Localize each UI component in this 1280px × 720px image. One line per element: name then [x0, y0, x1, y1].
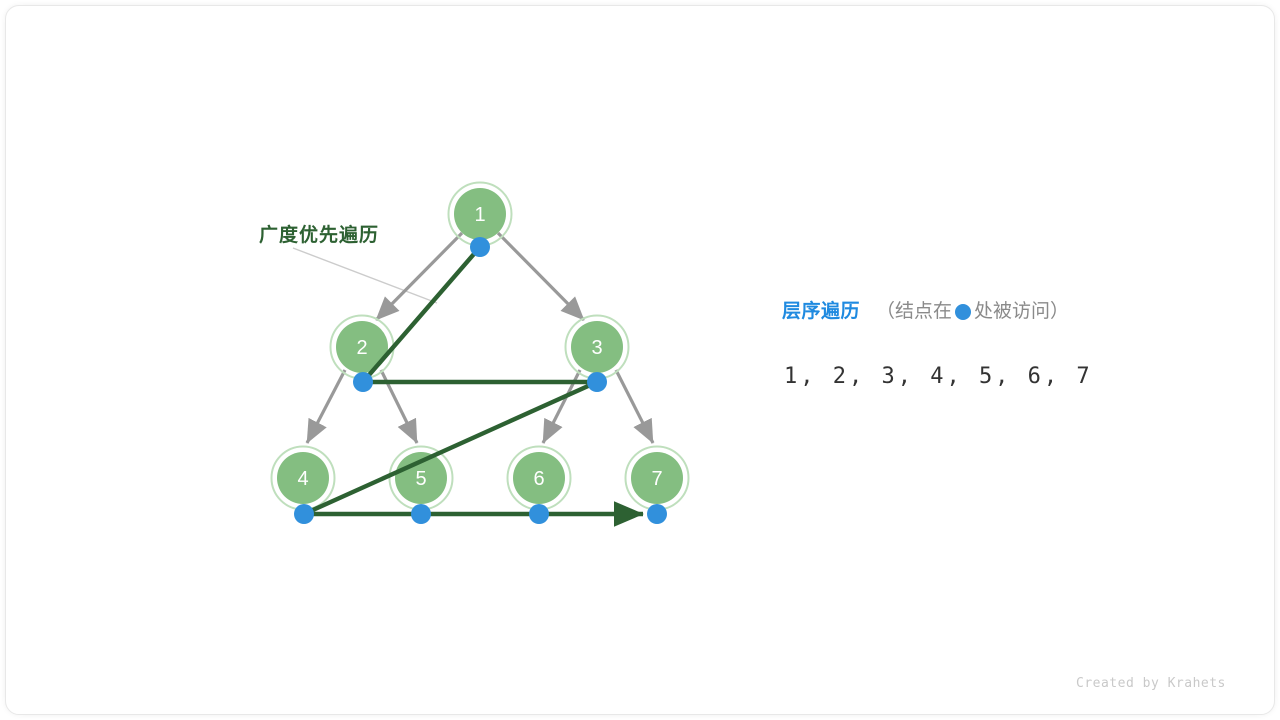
edge-1-2 — [376, 233, 462, 320]
visit-dot-2[interactable] — [353, 372, 373, 392]
node-4[interactable]: 4 — [272, 447, 335, 510]
visit-dot-7[interactable] — [647, 504, 667, 524]
node-7[interactable]: 7 — [626, 447, 689, 510]
visit-dot-3[interactable] — [587, 372, 607, 392]
legend-block: 层序遍历 （结点在 处被访问） — [782, 302, 1202, 321]
node-1[interactable]: 1 — [449, 183, 512, 246]
visit-dot-5[interactable] — [411, 504, 431, 524]
visit-dot-6[interactable] — [529, 504, 549, 524]
node-5-label: 5 — [415, 468, 426, 490]
annotation-label: 广度优先遍历 — [259, 220, 379, 247]
node-2-label: 2 — [356, 337, 367, 359]
edge-3-7 — [616, 370, 653, 443]
node-6-label: 6 — [533, 468, 544, 490]
legend-note-after: 处被访问） — [974, 302, 1069, 321]
legend-title: 层序遍历 — [782, 302, 860, 321]
blue-visit-dot-icon — [955, 304, 971, 320]
legend-line: 层序遍历 （结点在 处被访问） — [782, 302, 1202, 321]
credit-text: Created by Krahets — [1076, 676, 1226, 691]
traversal-sequence: 1, 2, 3, 4, 5, 6, 7 — [784, 364, 1093, 389]
node-5[interactable]: 5 — [390, 447, 453, 510]
legend-note: （结点在 处被访问） — [876, 302, 1069, 321]
tree-diagram: 1 2 3 4 5 — [0, 0, 1280, 720]
visit-dot-4[interactable] — [294, 504, 314, 524]
node-7-label: 7 — [651, 468, 662, 490]
node-4-label: 4 — [297, 468, 308, 490]
node-3-label: 3 — [591, 337, 602, 359]
annotation-leader-line — [293, 248, 437, 303]
node-1-label: 1 — [474, 204, 485, 226]
node-2[interactable]: 2 — [331, 316, 394, 379]
diagram-canvas: 1 2 3 4 5 — [0, 0, 1280, 720]
edge-1-3 — [498, 233, 584, 320]
legend-note-before: （结点在 — [876, 302, 952, 321]
visit-dot-1[interactable] — [470, 237, 490, 257]
node-3[interactable]: 3 — [566, 316, 629, 379]
node-6[interactable]: 6 — [508, 447, 571, 510]
edge-2-4 — [307, 370, 345, 443]
